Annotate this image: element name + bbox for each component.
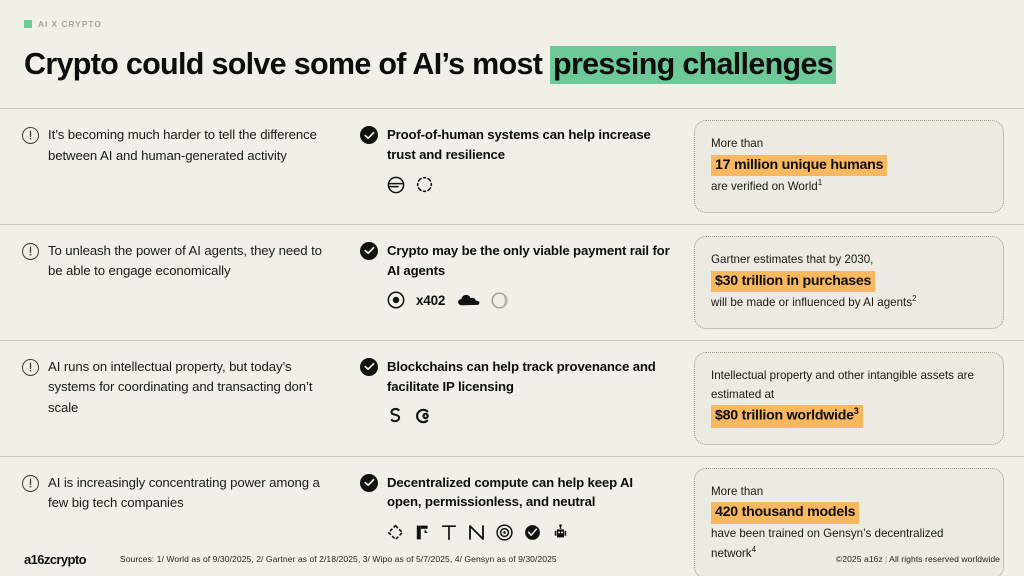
solution-body: Blockchains can help track provenance an…	[387, 357, 670, 428]
check-circle-icon	[360, 358, 378, 376]
stat-post-text: will be made or influenced by AI agents	[711, 296, 912, 309]
gensyn-logo	[524, 524, 541, 541]
stat-footnote: 2	[912, 294, 916, 303]
stat-post: will be made or influenced by AI agents2	[711, 293, 987, 313]
stat-highlight-text: $80 trillion worldwide	[715, 408, 854, 424]
exclamation-circle-icon	[22, 359, 39, 376]
problem-text: AI is increasingly concentrating power a…	[48, 473, 322, 514]
x402-wordmark: x402	[416, 293, 445, 308]
copyright-left: ©2025 a16z	[836, 554, 883, 564]
stat-highlight: 17 million unique humans	[711, 155, 887, 176]
problem-text: AI runs on intellectual property, but to…	[48, 357, 322, 419]
humanity-protocol-logo	[416, 176, 433, 193]
stat-pre: More than	[711, 483, 987, 502]
problem-cell: It’s becoming much harder to tell the di…	[0, 109, 350, 224]
together-logo	[441, 524, 457, 541]
circle-dot-logo	[387, 291, 405, 309]
stat-cell: More than 17 million unique humans are v…	[688, 109, 1024, 224]
green-square-icon	[24, 20, 32, 28]
eyebrow: AI X CRYPTO	[24, 19, 102, 29]
stat-pre: Intellectual property and other intangib…	[711, 367, 987, 405]
stat-box: Intellectual property and other intangib…	[694, 352, 1004, 445]
world-logo	[387, 176, 405, 194]
headline-highlight: pressing challenges	[550, 46, 836, 84]
stat-footnote: 1	[818, 178, 822, 187]
check-circle-icon	[360, 474, 378, 492]
cloudflare-logo	[456, 293, 480, 308]
comparison-grid: It’s becoming much harder to tell the di…	[0, 108, 1024, 576]
solution-cell: Blockchains can help track provenance an…	[350, 341, 688, 456]
sources-note: Sources: 1/ World as of 9/30/2025, 2/ Ga…	[120, 554, 557, 564]
solution-body: Crypto may be the only viable payment ra…	[387, 241, 670, 312]
problem-cell: AI runs on intellectual property, but to…	[0, 341, 350, 456]
stat-post-text: are verified on World	[711, 180, 818, 193]
solution-body: Decentralized compute can help keep AI o…	[387, 473, 670, 544]
headline-plain: Crypto could solve some of AI’s most	[24, 47, 550, 81]
exclamation-circle-icon	[22, 475, 39, 492]
solution-cell: Crypto may be the only viable payment ra…	[350, 225, 688, 340]
bittensor-logo	[415, 524, 430, 541]
stat-highlight: 420 thousand models	[711, 502, 859, 523]
footer: a16zcrypto Sources: 1/ World as of 9/30/…	[0, 542, 1024, 576]
nosana-logo	[468, 524, 485, 541]
robot-logo	[552, 524, 569, 541]
target-logo	[496, 524, 513, 541]
table-row: To unleash the power of AI agents, they …	[0, 224, 1024, 340]
exclamation-circle-icon	[22, 243, 39, 260]
diamond-logo	[387, 524, 404, 541]
camp-network-logo	[414, 407, 432, 425]
stat-cell: Gartner estimates that by 2030, $30 tril…	[688, 225, 1024, 340]
sphere-logo	[491, 292, 508, 309]
solution-text: Crypto may be the only viable payment ra…	[387, 241, 670, 281]
logo-strip	[387, 521, 670, 543]
eyebrow-label: AI X CRYPTO	[38, 19, 102, 29]
stat-highlight: $80 trillion worldwide3	[711, 405, 863, 427]
problem-text: It’s becoming much harder to tell the di…	[48, 125, 322, 166]
stat-footnote: 3	[854, 406, 859, 416]
stat-post: are verified on World1	[711, 177, 987, 197]
stat-highlight: $30 trillion in purchases	[711, 271, 875, 292]
copyright-note: ©2025 a16z|All rights reserved worldwide	[836, 554, 1000, 564]
solution-body: Proof-of-human systems can help increase…	[387, 125, 670, 196]
solution-text: Proof-of-human systems can help increase…	[387, 125, 670, 165]
stat-cell: Intellectual property and other intangib…	[688, 341, 1024, 456]
check-circle-icon	[360, 126, 378, 144]
story-protocol-logo	[387, 407, 403, 425]
stat-pre: Gartner estimates that by 2030,	[711, 251, 987, 270]
check-circle-icon	[360, 242, 378, 260]
solution-text: Decentralized compute can help keep AI o…	[387, 473, 670, 513]
logo-strip: x402	[387, 289, 670, 311]
solution-text: Blockchains can help track provenance an…	[387, 357, 670, 397]
table-row: It’s becoming much harder to tell the di…	[0, 108, 1024, 224]
exclamation-circle-icon	[22, 127, 39, 144]
a16zcrypto-logo: a16zcrypto	[24, 552, 86, 567]
stat-pre: More than	[711, 135, 987, 154]
stat-box: Gartner estimates that by 2030, $30 tril…	[694, 236, 1004, 329]
logo-strip	[387, 174, 670, 196]
table-row: AI runs on intellectual property, but to…	[0, 340, 1024, 456]
slide-root: AI X CRYPTO Crypto could solve some of A…	[0, 0, 1024, 576]
solution-cell: Proof-of-human systems can help increase…	[350, 109, 688, 224]
stat-box: More than 17 million unique humans are v…	[694, 120, 1004, 213]
problem-text: To unleash the power of AI agents, they …	[48, 241, 322, 282]
logo-strip	[387, 405, 670, 427]
copyright-right: All rights reserved worldwide	[889, 554, 1000, 564]
page-title: Crypto could solve some of AI’s most pre…	[24, 46, 1000, 83]
problem-cell: To unleash the power of AI agents, they …	[0, 225, 350, 340]
